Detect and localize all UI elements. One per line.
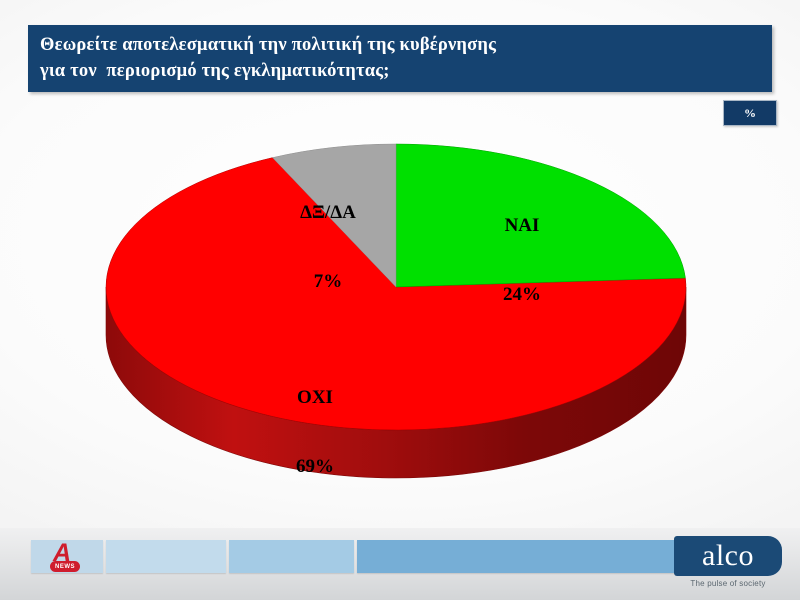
slice-top-nai [396, 144, 685, 287]
slide-canvas: Θεωρείτε αποτελεσματική την πολιτική της… [0, 0, 800, 600]
pie-chart: ΝΑΙ 24% ΟΧΙ 69% ΔΞ/ΔΑ 7% [0, 120, 800, 520]
anews-news-pill: NEWS [50, 561, 80, 572]
footer-block-1: A NEWS [31, 540, 103, 573]
title-line-2: για τον περιορισμό της εγκληματικότητας; [40, 58, 772, 84]
title-banner: Θεωρείτε αποτελεσματική την πολιτική της… [28, 25, 772, 92]
alco-logo: alco The pulse of society [674, 536, 782, 588]
pie-chart-svg [0, 120, 800, 520]
alco-logo-box: alco [674, 536, 782, 576]
alco-tagline: The pulse of society [674, 579, 782, 588]
title-line-1: Θεωρείτε αποτελεσματική την πολιτική της… [40, 32, 772, 58]
footer-block-3 [229, 540, 354, 573]
footer-color-blocks: A NEWS [31, 540, 687, 573]
footer-block-2 [106, 540, 226, 573]
alco-wordmark: alco [702, 541, 754, 571]
anews-logo: A NEWS [48, 542, 86, 573]
footer-block-4 [357, 540, 687, 573]
footer-bar: A NEWS alco The pulse of society [0, 528, 800, 600]
